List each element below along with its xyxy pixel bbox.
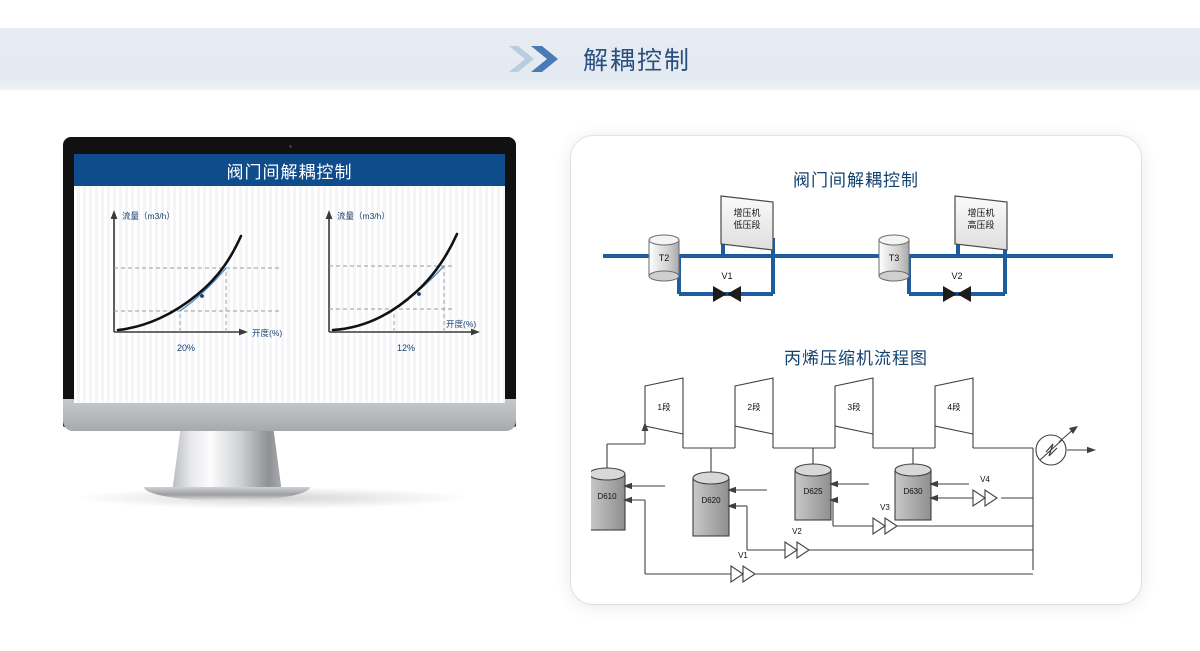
compressor-high-label-1: 增压机 [967, 207, 994, 218]
chart-right-ylabel: 流量（m3/h） [337, 211, 390, 221]
monitor-chin [63, 399, 516, 431]
stage-1: 1段 [645, 378, 683, 434]
screen-title: 阀门间解耦控制 [74, 154, 505, 186]
drum-d620-label: D620 [701, 496, 721, 505]
drum-d630: D630 [895, 464, 931, 520]
valve-v1-label: V1 [721, 271, 732, 281]
double-chevron-right-icon [509, 44, 567, 74]
drum-d625: D625 [795, 464, 831, 520]
valve-v4: V4 [929, 475, 1033, 506]
valve-v2-flowsheet-label: V2 [792, 527, 802, 536]
compressor-high-label-2: 高压段 [967, 219, 994, 230]
stage-2: 2段 [735, 378, 773, 434]
heat-exchanger-icon [1033, 426, 1096, 570]
monitor-stand-neck [172, 427, 282, 493]
monitor: 阀门间解耦控制 流量（m3/h） 开度(%) [63, 137, 516, 427]
tank-t2-label: T2 [659, 253, 670, 263]
tank-t3-label: T3 [889, 253, 900, 263]
tank-t3: T3 [879, 235, 909, 281]
chart-right: 流量（m3/h） 开度(%) 12% [326, 210, 480, 353]
drum-d610: D610 [591, 468, 625, 530]
diagram-top-title: 阀门间解耦控制 [571, 166, 1141, 191]
valve-decoupling-diagram: 增压机 低压段 增压机 高压段 T2 T3 V1 [593, 194, 1123, 324]
stage-3-label: 3段 [847, 402, 861, 412]
valve-v4-label: V4 [980, 475, 990, 484]
drum-d630-label: D630 [903, 487, 923, 496]
stage-4-label: 4段 [947, 402, 961, 412]
stage-1-label: 1段 [657, 402, 671, 412]
stage-3: 3段 [835, 378, 873, 434]
page-title: 解耦控制 [583, 41, 691, 77]
chart-right-marker [417, 292, 421, 296]
page-header: 解耦控制 [0, 28, 1200, 90]
valve-v2: V2 [943, 271, 971, 302]
valve-v1-flowsheet-label: V1 [738, 551, 748, 560]
webcam-dot-icon [289, 145, 292, 148]
valve-v1: V1 [713, 271, 741, 302]
chart-right-annotation: 12% [397, 343, 415, 353]
drum-d610-label: D610 [597, 492, 617, 501]
drum-d625-label: D625 [803, 487, 823, 496]
diagram-card: 阀门间解耦控制 [571, 136, 1141, 604]
stage-4: 4段 [935, 378, 973, 434]
propylene-compressor-flowsheet: 1段 2段 3段 4段 [591, 374, 1125, 592]
chart-left-ylabel: 流量（m3/h） [122, 211, 175, 221]
chart-left-marker [200, 294, 204, 298]
chart-left-xlabel: 开度(%) [252, 328, 282, 338]
diagram-bottom-title: 丙烯压缩机流程图 [571, 344, 1141, 369]
drum-d620: D620 [693, 472, 729, 536]
valve-v3-label: V3 [880, 503, 890, 512]
chart-right-xlabel: 开度(%) [446, 319, 476, 329]
chart-left: 流量（m3/h） 开度(%) 20% [111, 210, 283, 353]
valve-v2-label: V2 [951, 271, 962, 281]
monitor-screen: 阀门间解耦控制 流量（m3/h） 开度(%) [74, 154, 505, 403]
screen-content: 流量（m3/h） 开度(%) 20% [74, 186, 505, 403]
chart-left-annotation: 20% [177, 343, 195, 353]
compressor-low-label-2: 低压段 [733, 219, 760, 230]
compressor-low-label-1: 增压机 [733, 207, 760, 218]
compressor-low-pressure: 增压机 低压段 [721, 196, 773, 250]
stage-2-label: 2段 [747, 402, 761, 412]
compressor-high-pressure: 增压机 高压段 [955, 196, 1007, 250]
valve-decoupling-charts: 流量（m3/h） 开度(%) 20% [74, 186, 505, 403]
tank-t2: T2 [649, 235, 679, 281]
